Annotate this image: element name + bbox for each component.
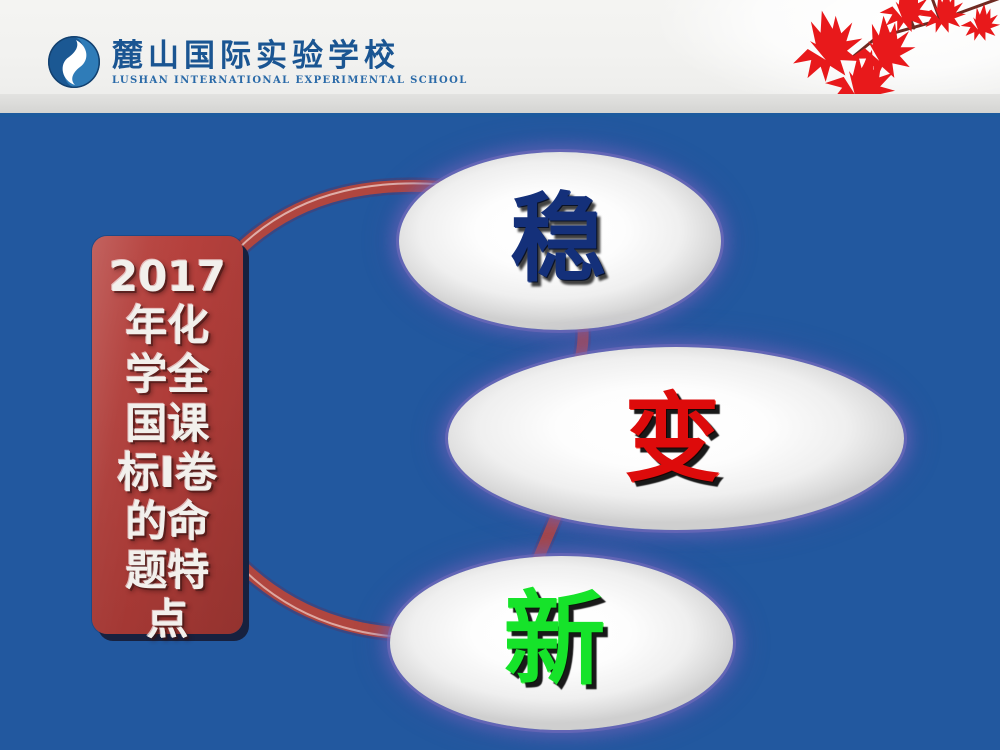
node-bian[interactable]: 变 [448,347,904,530]
school-logo: 麓山国际实验学校 LUSHAN INTERNATIONAL EXPERIMENT… [46,34,468,90]
node-xin-label: 新 [504,590,606,692]
school-name-block: 麓山国际实验学校 LUSHAN INTERNATIONAL EXPERIMENT… [112,39,468,87]
header-gloss [580,0,1000,94]
node-wen[interactable]: 稳 [399,152,721,330]
node-bian-label: 变 [624,391,720,487]
topic-title-box[interactable]: 2017年化学全国课标Ⅰ卷的命题特点 [92,236,243,634]
node-wen-label: 稳 [510,191,606,287]
school-name-english: LUSHAN INTERNATIONAL EXPERIMENTAL SCHOOL [112,74,468,87]
lushan-school-emblem-icon [46,34,102,90]
slide-header: 麓山国际实验学校 LUSHAN INTERNATIONAL EXPERIMENT… [0,0,1000,94]
topic-title-text: 2017年化学全国课标Ⅰ卷的命题特点 [106,252,229,644]
node-xin[interactable]: 新 [390,556,733,730]
header-gray-band [0,94,1000,113]
school-name-chinese: 麓山国际实验学校 [112,39,468,73]
slide-canvas: 麓山国际实验学校 LUSHAN INTERNATIONAL EXPERIMENT… [0,0,1000,750]
